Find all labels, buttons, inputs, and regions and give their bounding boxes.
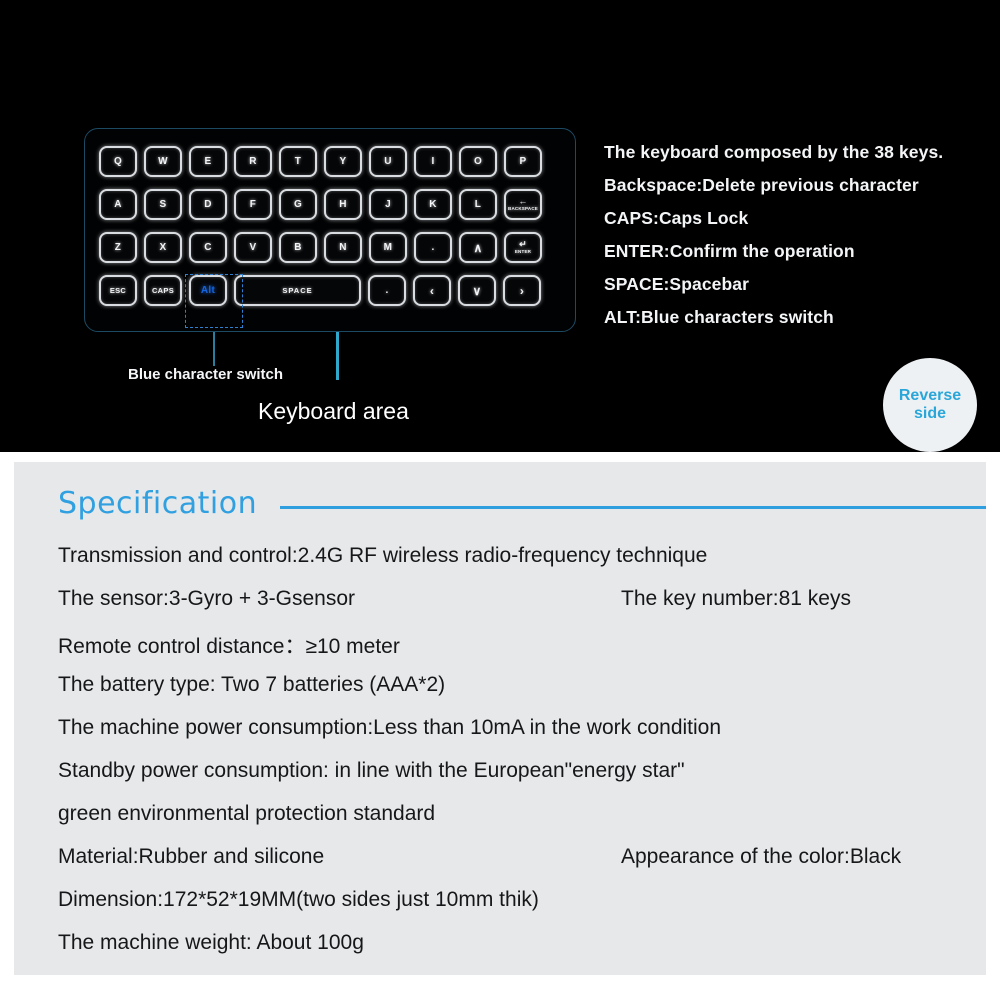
specification-text-primary: green environmental protection standard xyxy=(58,802,435,826)
specification-title: Specification xyxy=(58,486,257,521)
description-line: CAPS:Caps Lock xyxy=(604,208,943,229)
key-backspace[interactable]: ←BACKSPACE xyxy=(504,189,542,220)
description-line: The keyboard composed by the 38 keys. xyxy=(604,142,943,163)
specification-lines: Transmission and control:2.4G RF wireles… xyxy=(58,544,986,974)
key-d[interactable]: D xyxy=(189,189,227,220)
key-l[interactable]: L xyxy=(459,189,497,220)
specification-text-secondary: The key number:81 keys xyxy=(621,587,851,611)
specification-line: The battery type: Two 7 batteries (AAA*2… xyxy=(58,673,986,716)
key-b[interactable]: B xyxy=(279,232,317,263)
key-t[interactable]: T xyxy=(279,146,317,177)
specification-line: The sensor:3-Gyro + 3-GsensorThe key num… xyxy=(58,587,986,630)
key-label: ENTER xyxy=(515,250,531,255)
specification-panel: Specification Transmission and control:2… xyxy=(14,462,986,975)
specification-text-primary: Transmission and control:2.4G RF wireles… xyxy=(58,544,707,568)
key-space[interactable]: SPACE xyxy=(234,275,361,306)
keyboard-hero-panel: QWERTYUIOPASDFGHJKL←BACKSPACEZXCVBNM.∧↵E… xyxy=(0,0,1000,452)
callout-label-keyboard-area: Keyboard area xyxy=(258,398,409,425)
specification-text-primary: The machine weight: About 100g xyxy=(58,931,364,955)
key-x[interactable]: X xyxy=(144,232,182,263)
key-glyph: ↵ xyxy=(519,240,527,249)
specification-divider-rule xyxy=(280,506,986,509)
specification-text-primary: Standby power consumption: in line with … xyxy=(58,759,685,783)
key-esc[interactable]: ESC xyxy=(99,275,137,306)
key-h[interactable]: H xyxy=(324,189,362,220)
key-label: BACKSPACE xyxy=(508,207,538,212)
keyboard-row-4: ESCCAPSAltSPACE.‹∨› xyxy=(99,275,541,306)
specification-text-primary: The machine power consumption:Less than … xyxy=(58,716,721,740)
specification-line: green environmental protection standard xyxy=(58,802,986,845)
key-enter[interactable]: ↵ENTER xyxy=(504,232,542,263)
description-line: ALT:Blue characters switch xyxy=(604,307,943,328)
key-z[interactable]: Z xyxy=(99,232,137,263)
specification-text-primary: Material:Rubber and silicone xyxy=(58,845,324,869)
key-[interactable]: . xyxy=(414,232,452,263)
key-g[interactable]: G xyxy=(279,189,317,220)
specification-text-primary: The battery type: Two 7 batteries (AAA*2… xyxy=(58,673,445,697)
leader-line-keyboard-area xyxy=(336,332,339,380)
callout-label-blue-character-switch: Blue character switch xyxy=(128,366,283,383)
specification-line: Material:Rubber and siliconeAppearance o… xyxy=(58,845,986,888)
description-line: Backspace:Delete previous character xyxy=(604,175,943,196)
specification-line: The machine weight: About 100g xyxy=(58,931,986,974)
specification-header: Specification xyxy=(58,486,986,532)
key-[interactable]: ∧ xyxy=(459,232,497,263)
keyboard-description-list: The keyboard composed by the 38 keys. Ba… xyxy=(604,142,943,328)
specification-line: Remote control distance：≥10 meter xyxy=(58,630,986,673)
key-s[interactable]: S xyxy=(144,189,182,220)
specification-line: Standby power consumption: in line with … xyxy=(58,759,986,802)
key-glyph: ← xyxy=(518,197,527,206)
key-p[interactable]: P xyxy=(504,146,542,177)
key-r[interactable]: R xyxy=(234,146,272,177)
key-caps[interactable]: CAPS xyxy=(144,275,182,306)
key-[interactable]: ‹ xyxy=(413,275,451,306)
key-o[interactable]: O xyxy=(459,146,497,177)
key-w[interactable]: W xyxy=(144,146,182,177)
specification-line: Transmission and control:2.4G RF wireles… xyxy=(58,544,986,587)
key-a[interactable]: A xyxy=(99,189,137,220)
specification-line: The machine power consumption:Less than … xyxy=(58,716,986,759)
leader-line-alt-switch xyxy=(213,332,215,366)
alt-key-highlight-box xyxy=(185,274,243,328)
key-n[interactable]: N xyxy=(324,232,362,263)
key-y[interactable]: Y xyxy=(324,146,362,177)
specification-text-primary: Remote control distance：≥10 meter xyxy=(58,630,400,660)
key-i[interactable]: I xyxy=(414,146,452,177)
key-e[interactable]: E xyxy=(189,146,227,177)
specification-text-primary: Dimension:172*52*19MM(two sides just 10m… xyxy=(58,888,539,912)
specification-text-secondary: Appearance of the color:Black xyxy=(621,845,901,869)
key-[interactable]: ∨ xyxy=(458,275,496,306)
keyboard-outline-panel: QWERTYUIOPASDFGHJKL←BACKSPACEZXCVBNM.∧↵E… xyxy=(84,128,576,332)
key-[interactable]: › xyxy=(503,275,541,306)
key-c[interactable]: C xyxy=(189,232,227,263)
description-line: ENTER:Confirm the operation xyxy=(604,241,943,262)
reverse-badge-line-2: side xyxy=(914,405,946,423)
key-m[interactable]: M xyxy=(369,232,407,263)
key-[interactable]: . xyxy=(368,275,406,306)
key-j[interactable]: J xyxy=(369,189,407,220)
key-v[interactable]: V xyxy=(234,232,272,263)
key-f[interactable]: F xyxy=(234,189,272,220)
specification-text-primary: The sensor:3-Gyro + 3-Gsensor xyxy=(58,587,355,611)
description-line: SPACE:Spacebar xyxy=(604,274,943,295)
specification-line: Dimension:172*52*19MM(two sides just 10m… xyxy=(58,888,986,931)
keyboard-row-3: ZXCVBNM.∧↵ENTER xyxy=(99,232,542,263)
keyboard-row-2: ASDFGHJKL←BACKSPACE xyxy=(99,189,542,220)
key-k[interactable]: K xyxy=(414,189,452,220)
reverse-side-badge: Reverse side xyxy=(883,358,977,452)
key-u[interactable]: U xyxy=(369,146,407,177)
key-q[interactable]: Q xyxy=(99,146,137,177)
reverse-badge-line-1: Reverse xyxy=(899,387,961,405)
keyboard-row-1: QWERTYUIOP xyxy=(99,146,542,177)
